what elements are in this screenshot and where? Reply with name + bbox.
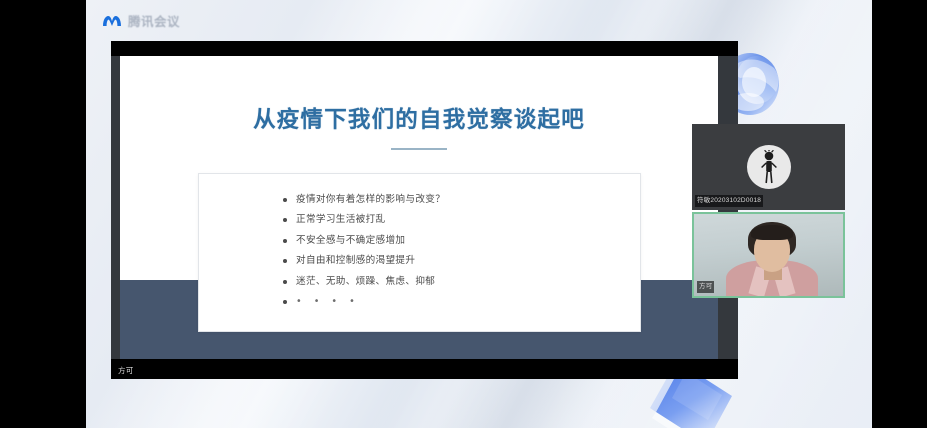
title-underline-rule <box>391 148 447 150</box>
list-item: 对自由和控制感的渴望提升 <box>199 255 640 267</box>
list-item-label: 对自由和控制感的渴望提升 <box>296 255 415 267</box>
brand-name: 腾讯会议 <box>128 11 180 30</box>
meeting-window: 腾讯会议 <box>86 0 872 428</box>
participant-tile-avatar[interactable]: 符敏20203102D0018 <box>692 124 845 210</box>
list-item-label: • • • • <box>296 296 359 308</box>
list-item-label: 正常学习生活被打乱 <box>296 214 386 226</box>
list-item-label: 不安全感与不确定感增加 <box>296 235 405 247</box>
screen-bezel-left <box>111 41 120 379</box>
list-item: 疫情对你有着怎样的影响与改变？ <box>199 194 640 206</box>
list-item: • • • • <box>199 296 640 308</box>
participant-name-label: 方可 <box>697 281 714 293</box>
list-item-label: 疫情对你有着怎样的影响与改变？ <box>296 194 445 206</box>
participant-video-strip: 符敏20203102D0018 方可 <box>692 124 845 298</box>
video-feed-icon <box>694 214 843 296</box>
screen-share-view: 腾讯会议 <box>0 0 927 428</box>
person-silhouette-icon <box>758 150 780 184</box>
slide-bullet-list: 疫情对你有着怎样的影响与改变？ 正常学习生活被打乱 不安全感与不确定感增加 <box>199 194 640 308</box>
list-item: 正常学习生活被打乱 <box>199 214 640 226</box>
slide-title: 从疫情下我们的自我觉察谈起吧 <box>120 102 718 134</box>
bullet-dot-icon <box>283 198 287 202</box>
participant-tile-camera[interactable]: 方可 <box>692 212 845 298</box>
list-item: 不安全感与不确定感增加 <box>199 235 640 247</box>
bullet-dot-icon <box>283 280 287 284</box>
bullet-dot-icon <box>283 239 287 243</box>
participant-name-label: 符敏20203102D0018 <box>695 195 763 207</box>
avatar <box>747 145 791 189</box>
shared-screen-area[interactable]: 从疫情下我们的自我觉察谈起吧 疫情对你有着怎样的影响与改变？ 正常学习生活被打乱 <box>111 41 738 379</box>
list-item-label: 迷茫、无助、烦躁、焦虑、抑郁 <box>296 276 435 288</box>
bullet-dot-icon <box>283 300 287 304</box>
bullet-dot-icon <box>283 259 287 263</box>
presenter-nameplate: 方可 <box>115 364 137 377</box>
bullet-dot-icon <box>283 218 287 222</box>
brand-header: 腾讯会议 <box>86 0 872 41</box>
tencent-meeting-logo-icon <box>102 14 122 28</box>
letterbox-bar-top <box>111 41 738 56</box>
list-item: 迷茫、无助、烦躁、焦虑、抑郁 <box>199 276 640 288</box>
presentation-slide: 从疫情下我们的自我觉察谈起吧 疫情对你有着怎样的影响与改变？ 正常学习生活被打乱 <box>120 56 718 359</box>
slide-content-card: 疫情对你有着怎样的影响与改变？ 正常学习生活被打乱 不安全感与不确定感增加 <box>198 173 641 332</box>
letterbox-bar-bottom: 方可 <box>111 359 738 379</box>
